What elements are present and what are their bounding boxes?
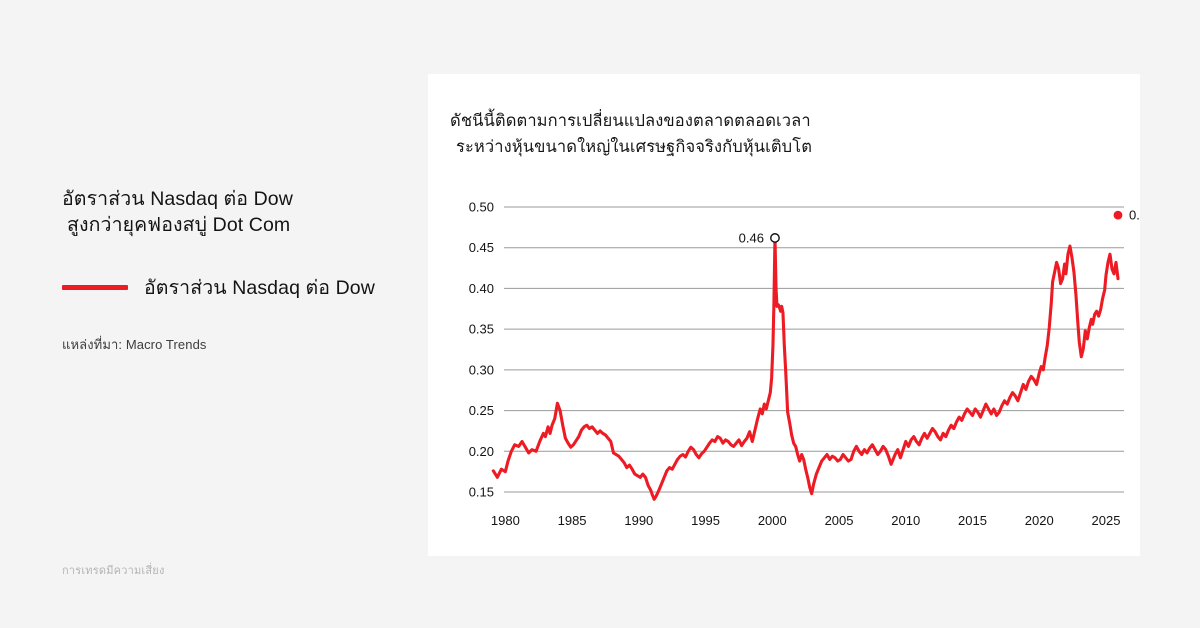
y-tick-label: 0.45 [469,240,494,255]
x-axis-tick-labels: 1980198519901995200020052010201520202025 [491,513,1121,528]
y-tick-label: 0.35 [469,322,494,337]
x-tick-label: 1995 [691,513,720,528]
legend-color-swatch [62,285,128,290]
y-tick-label: 0.30 [469,362,494,377]
headline-line-2: สูงกว่ายุคฟองสบู่ Dot Com [62,212,402,238]
gridlines-group [504,207,1124,492]
x-tick-label: 2015 [958,513,987,528]
y-tick-label: 0.20 [469,444,494,459]
x-tick-label: 1990 [624,513,653,528]
legend: อัตราส่วน Nasdaq ต่อ Dow [62,272,375,303]
headline-line-1: อัตราส่วน Nasdaq ต่อ Dow [62,188,293,210]
y-tick-label: 0.50 [469,200,494,215]
x-tick-label: 2000 [758,513,787,528]
annotation-label-dotcom-peak: 0.46 [739,230,764,245]
y-tick-label: 0.40 [469,281,494,296]
annotation-marker-dotcom-peak [771,234,779,242]
y-tick-label: 0.15 [469,485,494,500]
headline: อัตราส่วน Nasdaq ต่อ Dow สูงกว่ายุคฟองสบ… [62,186,402,238]
x-tick-label: 2025 [1092,513,1121,528]
x-tick-label: 2010 [891,513,920,528]
x-tick-label: 2005 [825,513,854,528]
risk-disclaimer: การเทรดมีความเสี่ยง [62,561,165,579]
left-text-panel: อัตราส่วน Nasdaq ต่อ Dow สูงกว่ายุคฟองสบ… [0,0,428,628]
annotations-group: 0.460.49 [739,208,1140,246]
y-tick-label: 0.25 [469,403,494,418]
x-tick-label: 2020 [1025,513,1054,528]
legend-series-label: อัตราส่วน Nasdaq ต่อ Dow [144,272,375,303]
annotation-marker-latest-value [1114,211,1123,220]
x-tick-label: 1980 [491,513,520,528]
x-tick-label: 1985 [558,513,587,528]
annotation-label-latest-value: 0.49 [1129,208,1140,223]
chart-card: ดัชนีนี้ติดตามการเปลี่ยนแปลงของตลาดตลอดเ… [428,74,1140,556]
line-chart-svg: 0.150.200.250.300.350.400.450.50 1980198… [428,74,1140,556]
plot-area: 0.150.200.250.300.350.400.450.50 1980198… [428,74,1140,556]
y-axis-tick-labels: 0.150.200.250.300.350.400.450.50 [469,200,494,500]
series-group [493,238,1118,499]
source-attribution: แหล่งที่มา: Macro Trends [62,334,207,355]
series-line-nasdaq-dow-ratio [493,238,1118,499]
